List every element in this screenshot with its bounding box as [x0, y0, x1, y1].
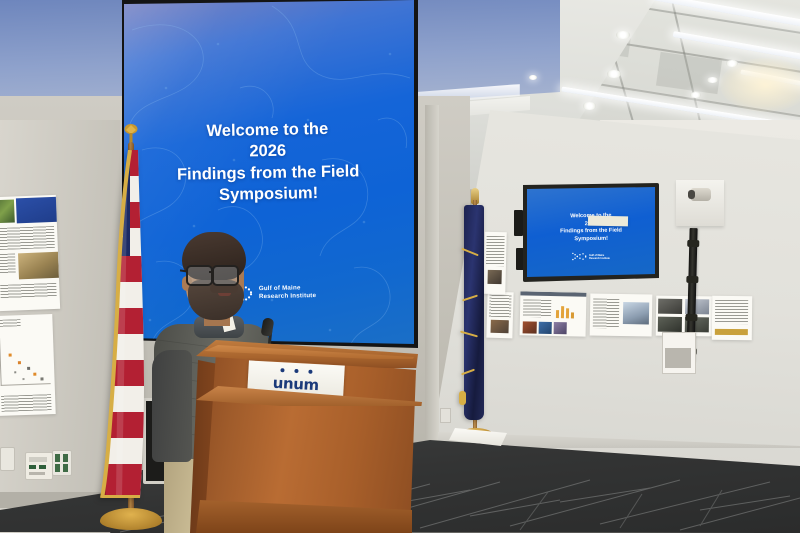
slide-headline: Welcome to the 2026 Findings from the Fi… — [122, 117, 414, 208]
research-poster-b — [520, 291, 587, 336]
track-bracket — [685, 314, 697, 321]
recessed-downlight — [690, 92, 701, 98]
poster-data-table — [16, 197, 59, 224]
state-flag — [464, 205, 484, 420]
tv-wall-mount-arm — [516, 248, 524, 270]
camera-shelf — [676, 180, 724, 226]
research-poster-a — [486, 292, 513, 339]
poster-text-block — [0, 283, 56, 299]
unum-dot — [280, 368, 284, 372]
wall-outlet — [440, 408, 451, 423]
tv-slide-line-4: Symposium! — [574, 235, 608, 242]
presenter-arm — [152, 350, 192, 462]
secondary-wall-tv[interactable]: Welcome to the 2026 Findings from the Fi… — [527, 187, 655, 277]
tv-slide-line-3: Findings from the Field — [560, 228, 622, 235]
eyeglasses-temple — [180, 269, 188, 272]
poster-text-block — [0, 319, 21, 327]
av-control-panel — [25, 452, 53, 480]
light-switch-plate[interactable] — [52, 450, 72, 476]
eyeglasses-bridge — [209, 271, 214, 273]
poster-photo — [487, 270, 501, 284]
research-poster-d — [656, 296, 713, 337]
eyeglasses-lens-right — [212, 265, 239, 286]
tv-wall-mount-arm — [514, 210, 523, 236]
poster-photo — [554, 322, 567, 334]
poster-text-block — [0, 226, 55, 250]
poster-scatter-chart — [0, 336, 51, 386]
track-bracket — [686, 276, 698, 283]
research-poster-f — [588, 216, 628, 227]
us-flag-base — [100, 508, 162, 530]
gmri-dotted-wave-icon — [572, 248, 587, 266]
poster-photo — [623, 302, 649, 324]
recessed-downlight — [529, 75, 537, 80]
poster-bar-chart — [554, 300, 580, 319]
camera-lens-icon — [688, 190, 695, 199]
poster-photo — [658, 317, 682, 332]
research-poster-e — [712, 296, 752, 340]
poster-text-block — [715, 300, 748, 324]
eyeglasses-lens-left — [186, 265, 213, 286]
tv-gmri-logo: Gulf of Maine Research Institute — [527, 248, 655, 266]
unum-logo: unum — [260, 367, 331, 393]
research-poster-upper — [0, 195, 60, 311]
poster-text-block — [523, 299, 551, 318]
framed-picture-image — [665, 348, 691, 368]
poster-photo — [18, 252, 59, 280]
unum-dot — [308, 369, 312, 373]
research-poster-c — [590, 293, 653, 336]
wall-corner — [425, 105, 439, 475]
ceiling-light-glow — [720, 58, 800, 112]
poster-text-block — [1, 394, 52, 412]
unum-dot — [294, 368, 298, 372]
recessed-downlight — [707, 77, 718, 83]
poster-text-block — [593, 299, 620, 329]
recessed-downlight — [616, 31, 630, 39]
track-bracket — [687, 240, 699, 247]
poster-photo — [658, 299, 682, 314]
recessed-downlight — [607, 70, 621, 78]
tv-gmri-logo-text: Gulf of Maine Research Institute — [589, 254, 610, 260]
poster-photo — [0, 199, 15, 223]
poster-photo — [539, 322, 552, 334]
poster-accent-bar — [715, 329, 748, 335]
research-poster-g — [483, 232, 507, 295]
poster-text-block — [489, 295, 512, 318]
recessed-downlight — [583, 102, 596, 110]
poster-text-block — [0, 253, 16, 274]
poster-photo — [523, 321, 537, 333]
poster-text-block — [486, 236, 505, 266]
poster-photo — [491, 320, 509, 333]
research-poster-lower — [0, 314, 56, 416]
conference-room-photo: Welcome to the 2026 Findings from the Fi… — [0, 0, 800, 533]
us-flag — [100, 150, 146, 498]
wall-outlet — [0, 447, 15, 471]
tv-gmri-line-2: Research Institute — [589, 257, 610, 260]
poster-header-bar — [520, 291, 586, 296]
